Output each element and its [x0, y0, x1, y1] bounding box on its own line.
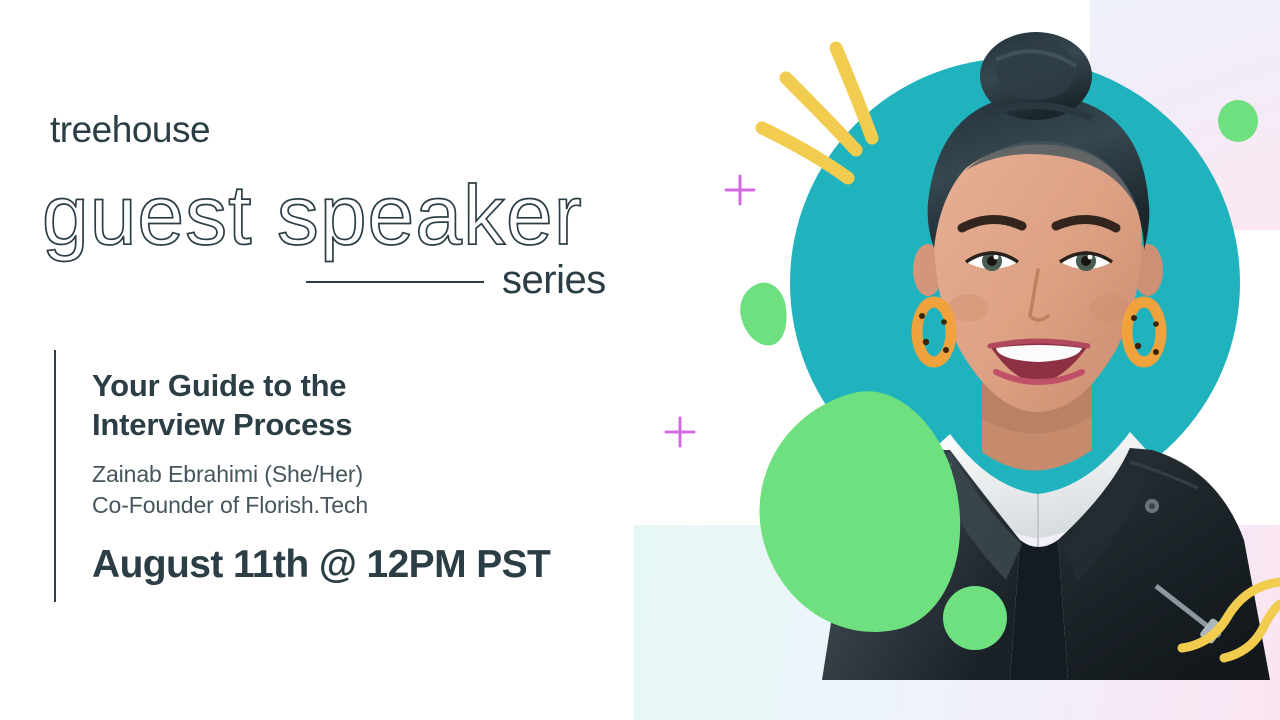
detail-accent-rule: [54, 350, 56, 602]
talk-title: Your Guide to the Interview Process: [92, 366, 632, 445]
talk-title-line-1: Your Guide to the: [92, 366, 632, 405]
text-column: treehouse guest speaker series Your Guid…: [0, 0, 660, 720]
speaker-name: Zainab Ebrahimi (She/Her): [92, 459, 632, 490]
talk-title-line-2: Interview Process: [92, 405, 632, 444]
green-circle-decor-bottom: [943, 586, 1007, 650]
series-label: series: [502, 258, 606, 303]
headline-guest-speaker: guest speaker: [28, 160, 648, 270]
brand-wordmark: treehouse: [50, 109, 210, 151]
green-circle-decor-top-right: [1218, 100, 1258, 142]
event-datetime: August 11th @ 12PM PST: [92, 543, 632, 587]
series-row: series: [306, 258, 636, 306]
green-oval-decor: [735, 279, 793, 350]
talk-details: Your Guide to the Interview Process Zain…: [54, 350, 634, 602]
speaker-role: Co-Founder of Florish.Tech: [92, 490, 632, 521]
series-divider-rule: [306, 281, 484, 283]
slide-canvas: treehouse guest speaker series Your Guid…: [0, 0, 1280, 720]
headline-outline-text: guest speaker: [42, 168, 583, 262]
